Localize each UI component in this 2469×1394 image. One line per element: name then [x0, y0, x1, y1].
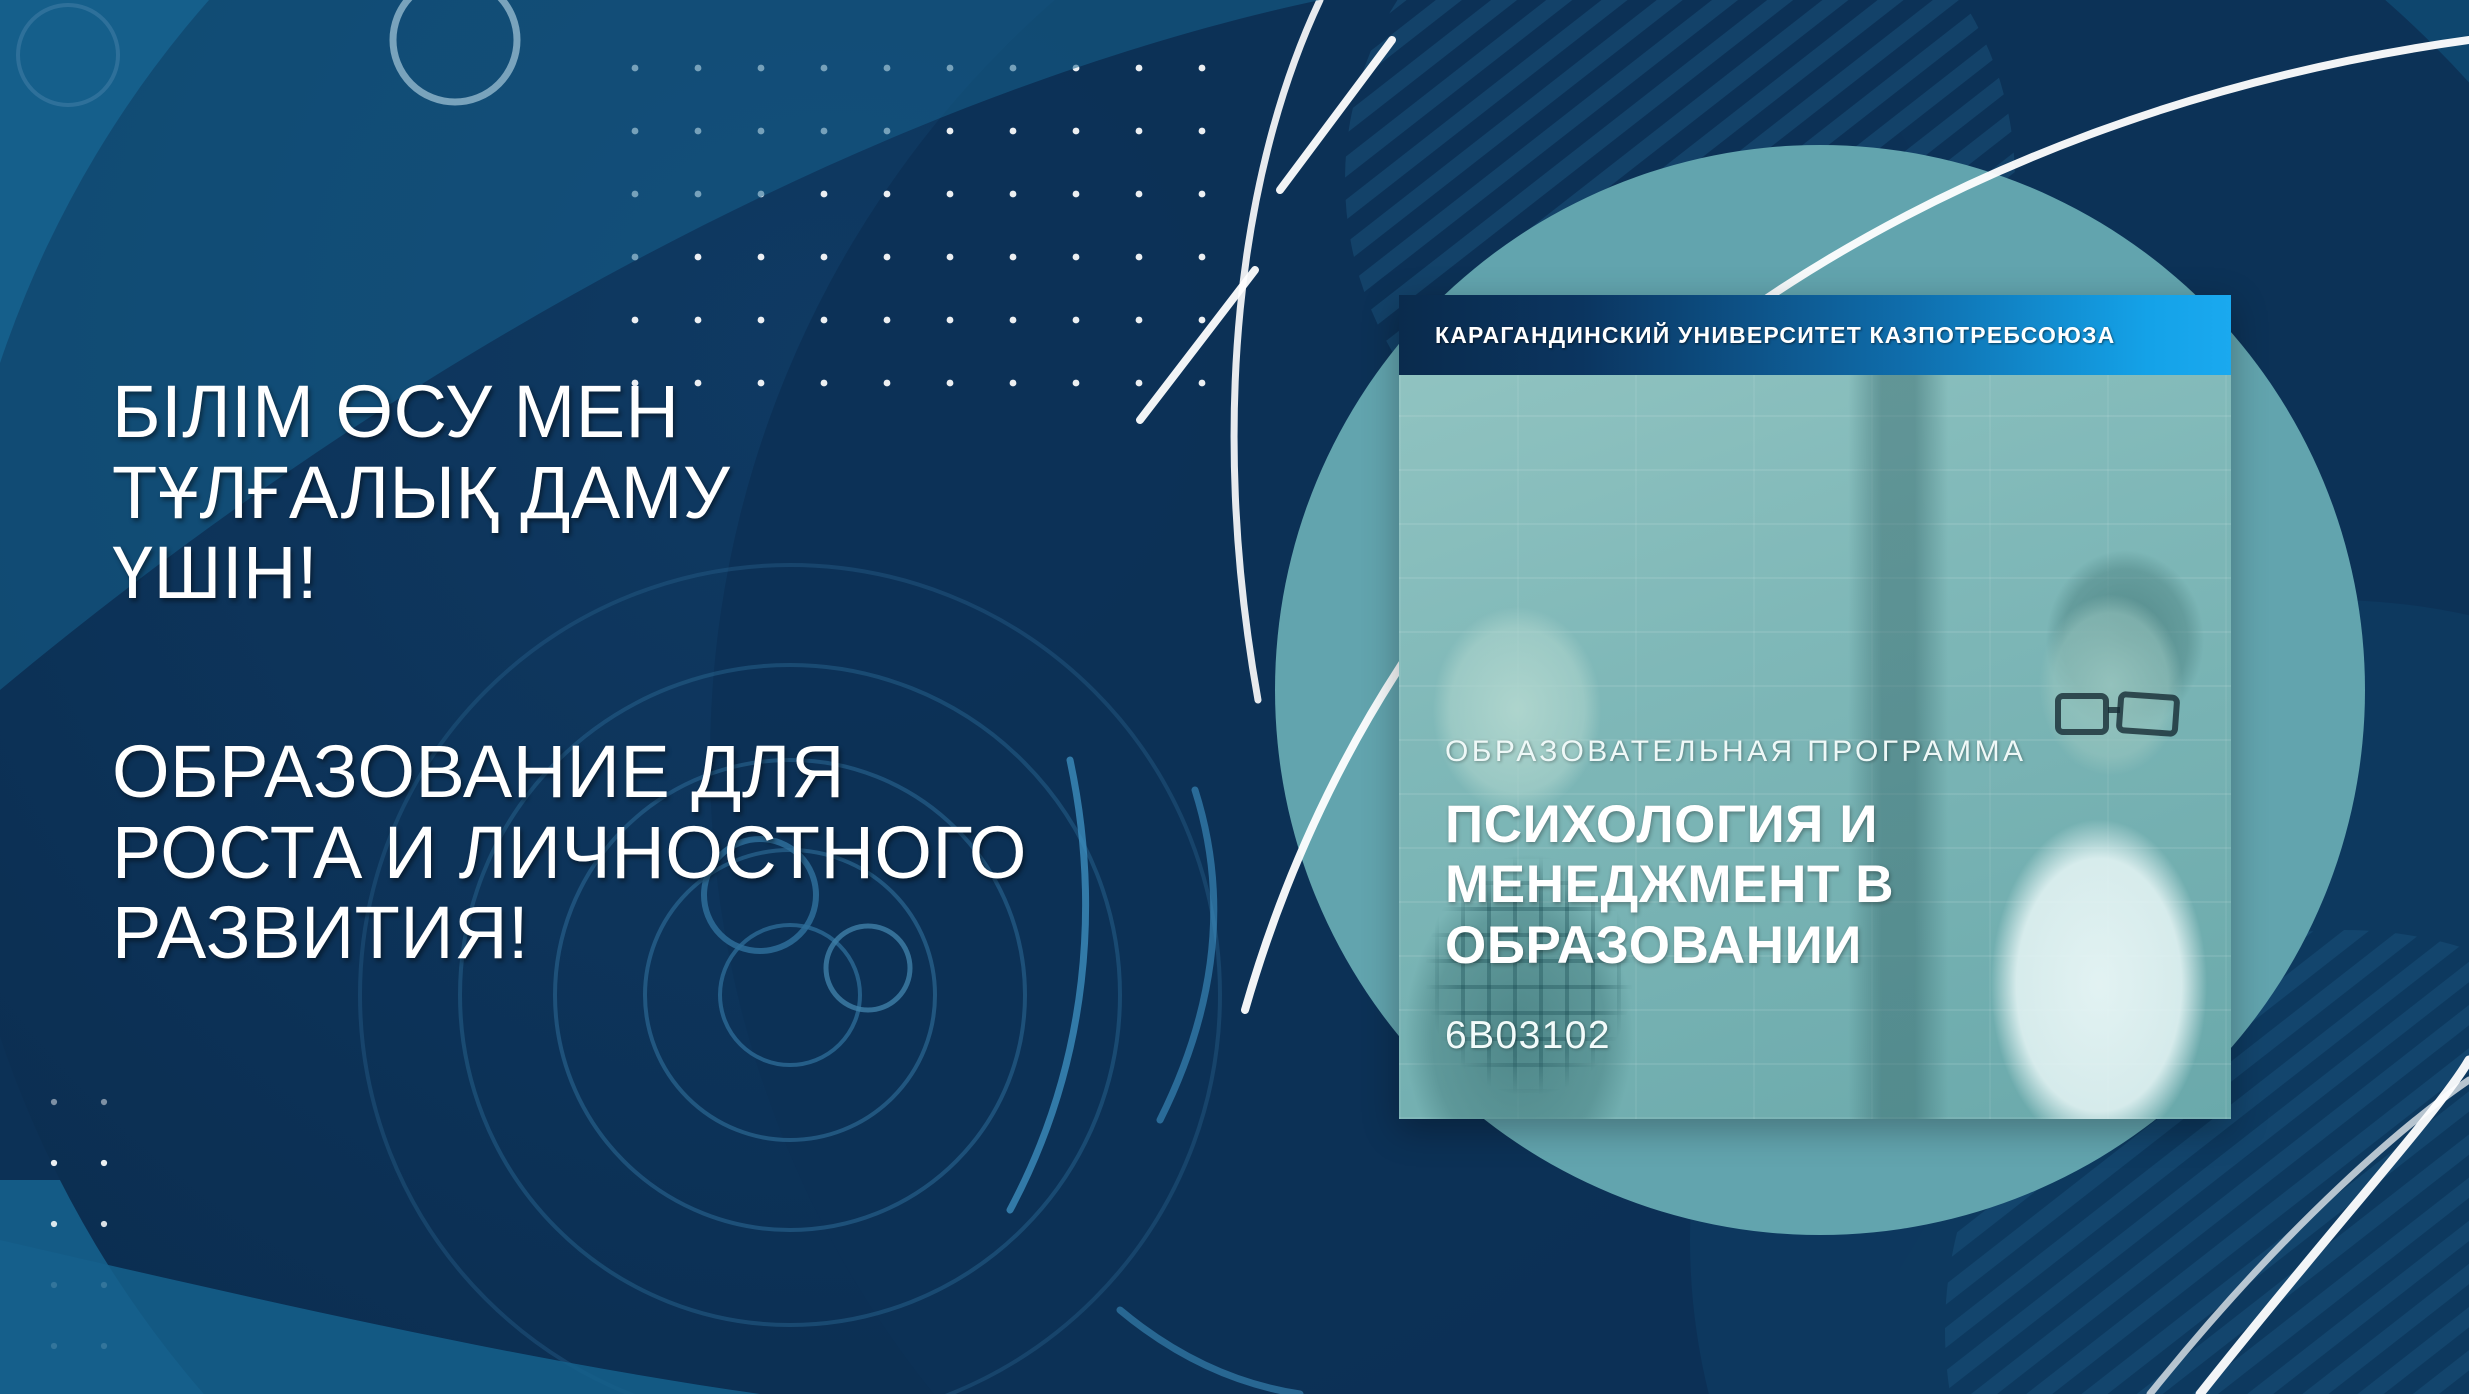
headline-russian: ОБРАЗОВАНИЕ ДЛЯ РОСТА И ЛИЧНОСТНОГО РАЗВ…: [112, 732, 1242, 974]
university-banner: КАРАГАНДИНСКИЙ УНИВЕРСИТЕТ КАЗПОТРЕБСОЮЗ…: [1399, 295, 2231, 375]
dot-grid-left-middle: [20, 1060, 130, 1180]
poster-program-title: ПСИХОЛОГИЯ И МЕНЕДЖМЕНТ В ОБРАЗОВАНИИ: [1445, 795, 2191, 976]
university-banner-text: КАРАГАНДИНСКИЙ УНИВЕРСИТЕТ КАЗПОТРЕБСОЮЗ…: [1435, 322, 2115, 349]
poster-eyebrow-label: ОБРАЗОВАТЕЛЬНАЯ ПРОГРАММА: [1445, 735, 2191, 769]
poster-text-stack: ОБРАЗОВАТЕЛЬНАЯ ПРОГРАММА ПСИХОЛОГИЯ И М…: [1445, 735, 2191, 1058]
presentation-slide: БІЛІМ ӨСУ МЕН ТҰЛҒАЛЫҚ ДАМУ ҮШІН! ОБРАЗО…: [0, 0, 2469, 1394]
poster-program-code: 6B03102: [1445, 1014, 2191, 1058]
program-poster-card: КАРАГАНДИНСКИЙ УНИВЕРСИТЕТ КАЗПОТРЕБСОЮЗ…: [1399, 295, 2231, 1119]
glasses-icon: [2055, 693, 2185, 737]
slide-text-block: БІЛІМ ӨСУ МЕН ТҰЛҒАЛЫҚ ДАМУ ҮШІН! ОБРАЗО…: [112, 372, 1242, 974]
headline-kazakh: БІЛІМ ӨСУ МЕН ТҰЛҒАЛЫҚ ДАМУ ҮШІН!: [112, 372, 1242, 614]
